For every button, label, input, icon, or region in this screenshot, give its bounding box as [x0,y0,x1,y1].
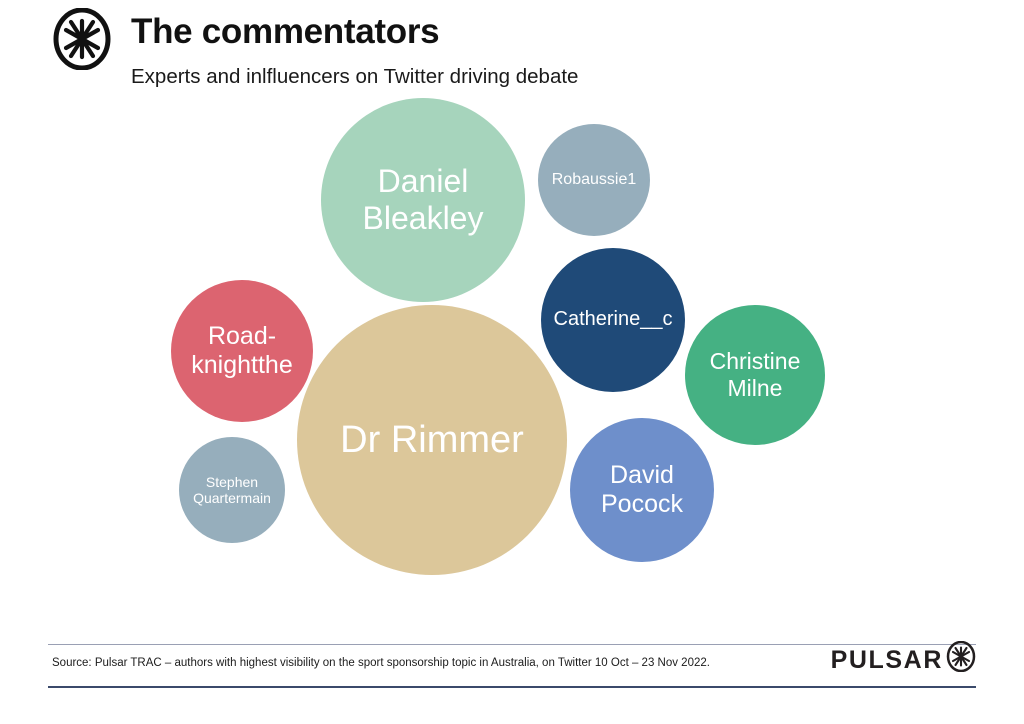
bubble-label: Daniel Bleakley [324,163,522,237]
bubble-label: Stephen Quartermain [179,474,285,506]
bubble-david-pocock[interactable]: David Pocock [570,418,714,562]
bubble-dr-rimmer[interactable]: Dr Rimmer [297,305,567,575]
pulsar-wordmark: PULSAR [831,646,943,675]
bubble-label: Road-knightthe [171,322,312,380]
footer-divider-bottom [48,686,976,688]
bubble-label: Robaussie1 [546,171,643,190]
bubble-chart: Dr RimmerDaniel BleakleyCatherine__cDavi… [0,100,1024,630]
pulsar-logo: PULSAR [831,646,976,675]
page-subtitle: Experts and inlfluencers on Twitter driv… [131,63,578,91]
title-block: The commentators Experts and inlfluencer… [131,10,578,91]
bubble-label: David Pocock [570,461,713,519]
page-title: The commentators [131,10,578,54]
bubble-label: Christine Milne [685,348,824,401]
bubble-catherine-c[interactable]: Catherine__c [541,248,685,392]
footer-divider-top [48,644,976,645]
bubble-label: Dr Rimmer [334,418,530,462]
header: The commentators Experts and inlfluencer… [0,0,1024,104]
bubble-label: Catherine__c [548,308,679,331]
bubble-road-knightthe[interactable]: Road-knightthe [171,280,313,422]
bubble-christine-milne[interactable]: Christine Milne [685,305,825,445]
footer: Source: Pulsar TRAC – authors with highe… [0,630,1024,724]
bubble-stephen-quartermain[interactable]: Stephen Quartermain [179,437,285,543]
source-note: Source: Pulsar TRAC – authors with highe… [52,657,710,669]
asterisk-shield-icon [946,641,976,672]
bubble-robaussie1[interactable]: Robaussie1 [538,124,650,236]
bubble-daniel-bleakley[interactable]: Daniel Bleakley [321,98,525,302]
asterisk-shield-icon [52,8,112,70]
